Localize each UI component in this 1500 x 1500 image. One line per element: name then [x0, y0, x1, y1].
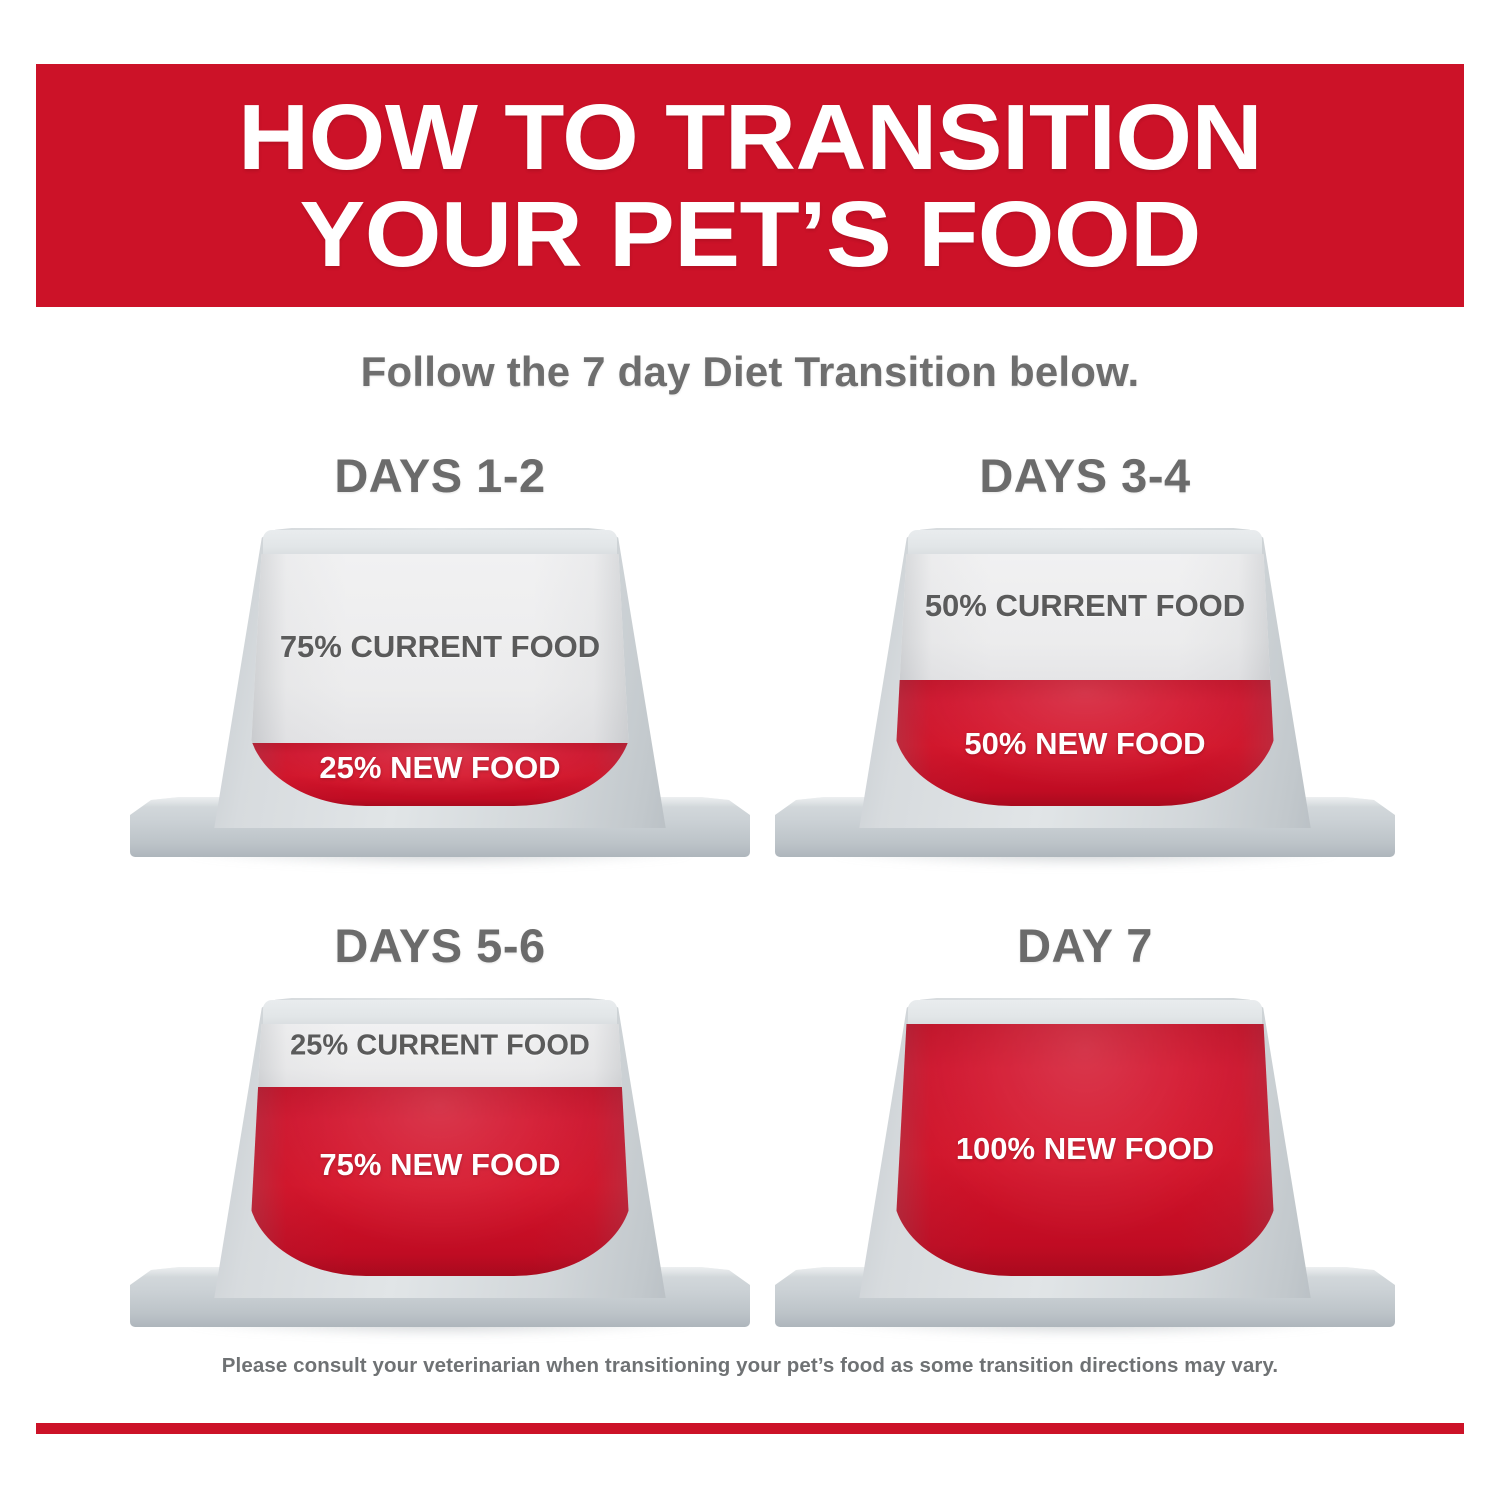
current-food-fill: 50% CURRENT FOOD	[893, 554, 1277, 680]
new-food-label: 100% NEW FOOD	[893, 1132, 1277, 1167]
header-title-line2: YOUR PET’S FOOD	[299, 189, 1200, 279]
bowl-days-3-4: 50% CURRENT FOOD 50% NEW FOOD	[775, 528, 1395, 873]
header-banner: HOW TO TRANSITION YOUR PET’S FOOD	[36, 64, 1464, 307]
food-container: 100% NEW FOOD	[893, 1024, 1277, 1276]
current-food-fill: 25% CURRENT FOOD	[248, 1024, 632, 1087]
current-food-fill: 75% CURRENT FOOD	[248, 554, 632, 743]
food-container: 75% CURRENT FOOD 25% NEW FOOD	[248, 554, 632, 806]
subtitle-text: Follow the 7 day Diet Transition below.	[0, 348, 1500, 396]
step-card-day-7: DAY 7 100% NEW FOOD	[740, 910, 1430, 1360]
infographic-page: HOW TO TRANSITION YOUR PET’S FOOD Follow…	[0, 0, 1500, 1500]
new-food-fill: 25% NEW FOOD	[248, 743, 632, 806]
header-title-line1: HOW TO TRANSITION	[238, 92, 1262, 182]
day-label-4: DAY 7	[740, 918, 1430, 973]
new-food-label: 50% NEW FOOD	[893, 728, 1277, 763]
food-container: 25% CURRENT FOOD 75% NEW FOOD	[248, 1024, 632, 1276]
current-food-label: 25% CURRENT FOOD	[248, 1029, 632, 1061]
day-label-1: DAYS 1-2	[95, 448, 785, 503]
footer-accent-bar	[36, 1423, 1464, 1434]
day-label-2: DAYS 3-4	[740, 448, 1430, 503]
new-food-fill: 50% NEW FOOD	[893, 680, 1277, 806]
new-food-fill: 100% NEW FOOD	[893, 1024, 1277, 1276]
bowl-days-5-6: 25% CURRENT FOOD 75% NEW FOOD	[130, 998, 750, 1343]
footer-disclaimer: Please consult your veterinarian when tr…	[0, 1354, 1500, 1378]
new-food-label: 75% NEW FOOD	[248, 1148, 632, 1183]
food-container: 50% CURRENT FOOD 50% NEW FOOD	[893, 554, 1277, 806]
step-card-days-1-2: DAYS 1-2 75% CURRENT FOOD 25% NEW FOOD	[95, 440, 785, 890]
current-food-label: 75% CURRENT FOOD	[248, 631, 632, 666]
transition-steps-grid: DAYS 1-2 75% CURRENT FOOD 25% NEW FOOD	[0, 440, 1500, 1350]
step-card-days-3-4: DAYS 3-4 50% CURRENT FOOD 50% NEW FOOD	[740, 440, 1430, 890]
step-card-days-5-6: DAYS 5-6 25% CURRENT FOOD 75% NEW FOOD	[95, 910, 785, 1360]
current-food-label: 50% CURRENT FOOD	[893, 589, 1277, 624]
bowl-days-1-2: 75% CURRENT FOOD 25% NEW FOOD	[130, 528, 750, 873]
new-food-label: 25% NEW FOOD	[248, 752, 632, 787]
new-food-fill: 75% NEW FOOD	[248, 1087, 632, 1276]
bowl-day-7: 100% NEW FOOD	[775, 998, 1395, 1343]
day-label-3: DAYS 5-6	[95, 918, 785, 973]
